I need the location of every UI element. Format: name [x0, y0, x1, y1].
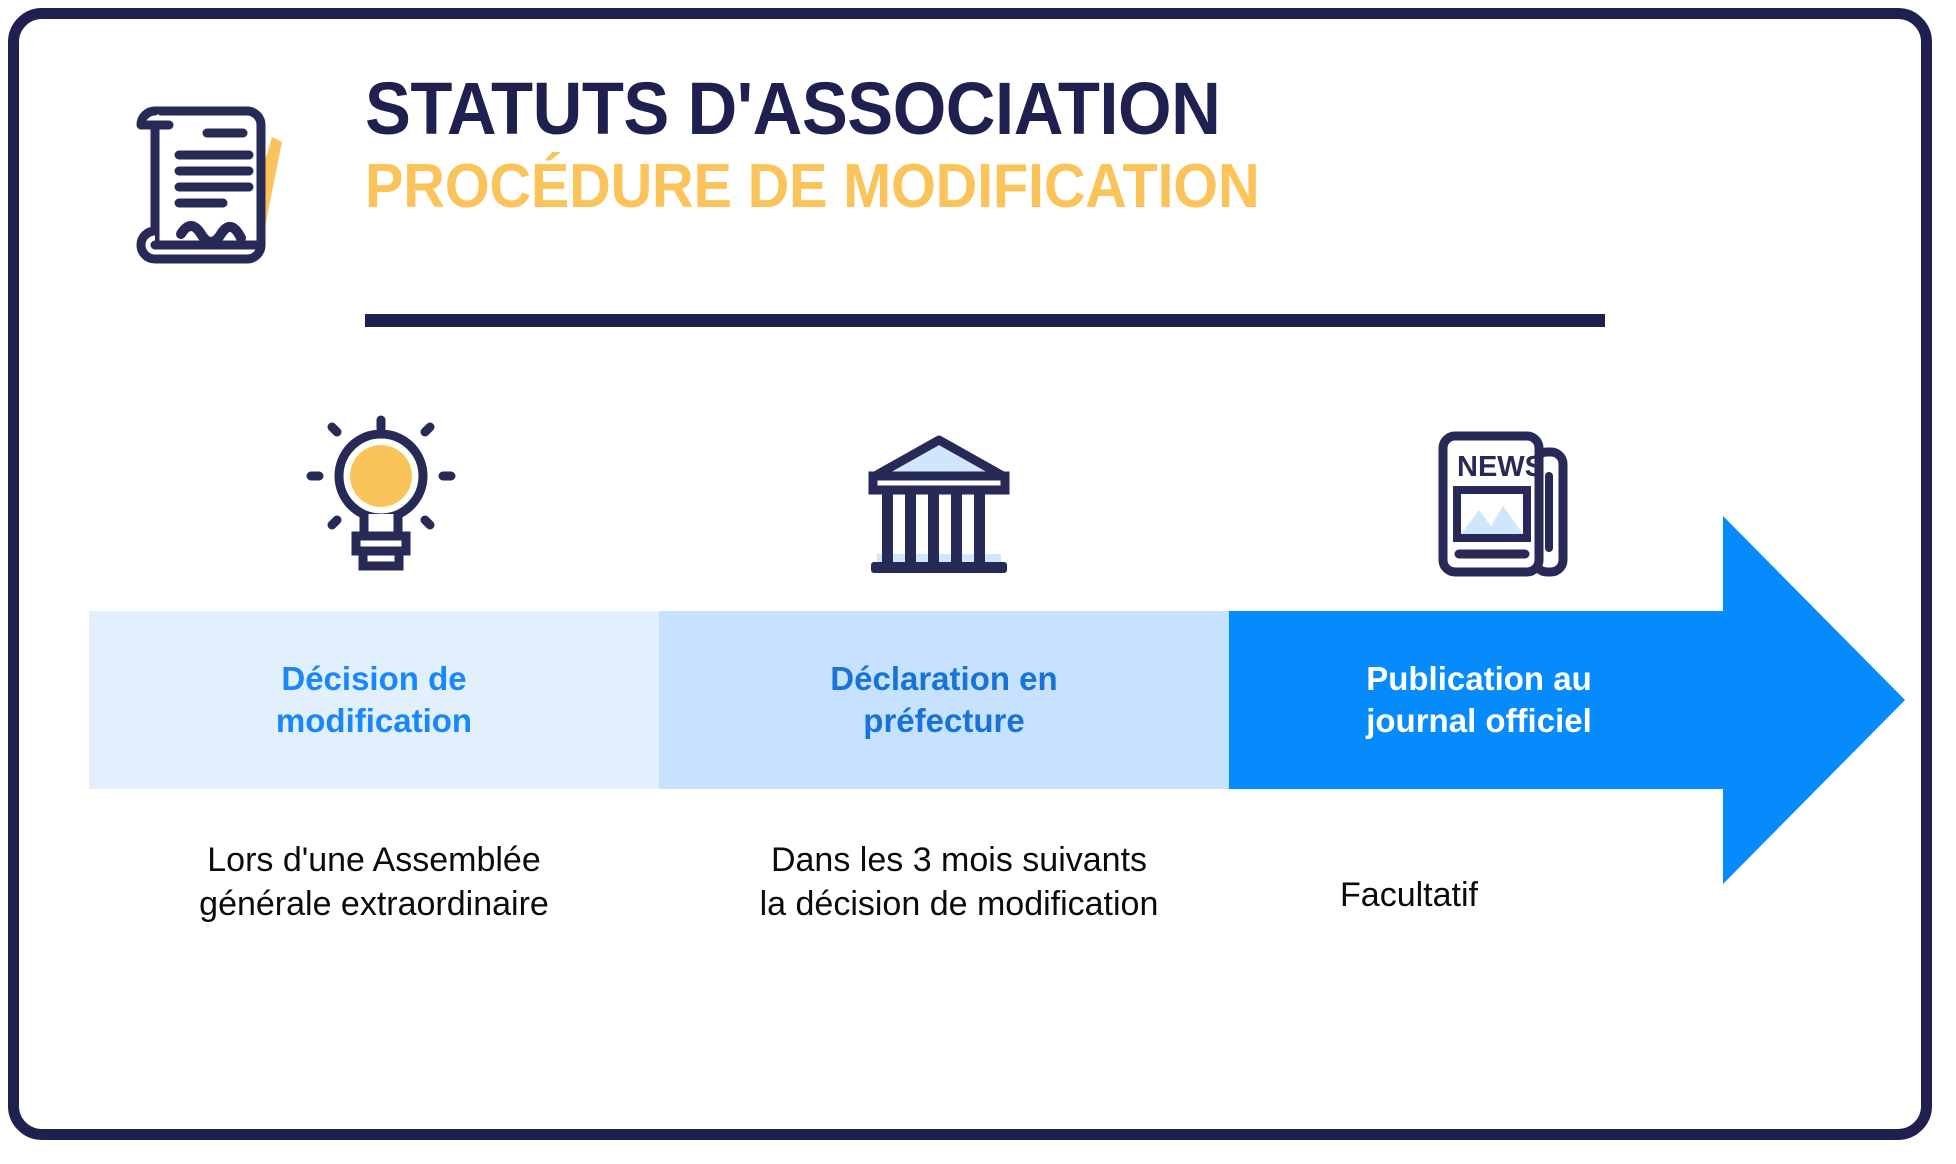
bank-building-icon: [849, 414, 1029, 589]
lightbulb-icon: [291, 414, 471, 589]
process-step-1[interactable]: Décision de modification: [89, 611, 659, 789]
header: STATUTS D'ASSOCIATION PROCÉDURE DE MODIF…: [119, 74, 1679, 279]
process-step-2-label: Déclaration en préfecture: [830, 658, 1057, 742]
process-step-3-label: Publication au journal officiel: [1366, 658, 1592, 742]
infographic-frame: STATUTS D'ASSOCIATION PROCÉDURE DE MODIF…: [8, 8, 1932, 1140]
process-step-1-label: Décision de modification: [276, 658, 472, 742]
title-subtitle: PROCÉDURE DE MODIFICATION: [365, 154, 1593, 219]
title-main: STATUTS D'ASSOCIATION: [365, 72, 1593, 146]
page-title: STATUTS D'ASSOCIATION PROCÉDURE DE MODIF…: [365, 72, 1685, 219]
process-step-3[interactable]: Publication au journal officiel: [1229, 611, 1729, 789]
scroll-document-pen-icon: [119, 79, 309, 269]
process-arrow: Décision de modification Déclaration en …: [89, 611, 1899, 789]
arrow-head-icon: [1723, 516, 1905, 884]
title-underline-rule: [365, 314, 1605, 327]
process-step-1-caption: Lors d'une Assemblée générale extraordin…: [89, 839, 659, 926]
process-step-2[interactable]: Déclaration en préfecture: [659, 611, 1229, 789]
newspaper-icon: NEWS: [1419, 414, 1599, 589]
newspaper-headline-text: NEWS: [1457, 451, 1544, 483]
process-step-3-caption: Facultatif: [1159, 874, 1659, 918]
